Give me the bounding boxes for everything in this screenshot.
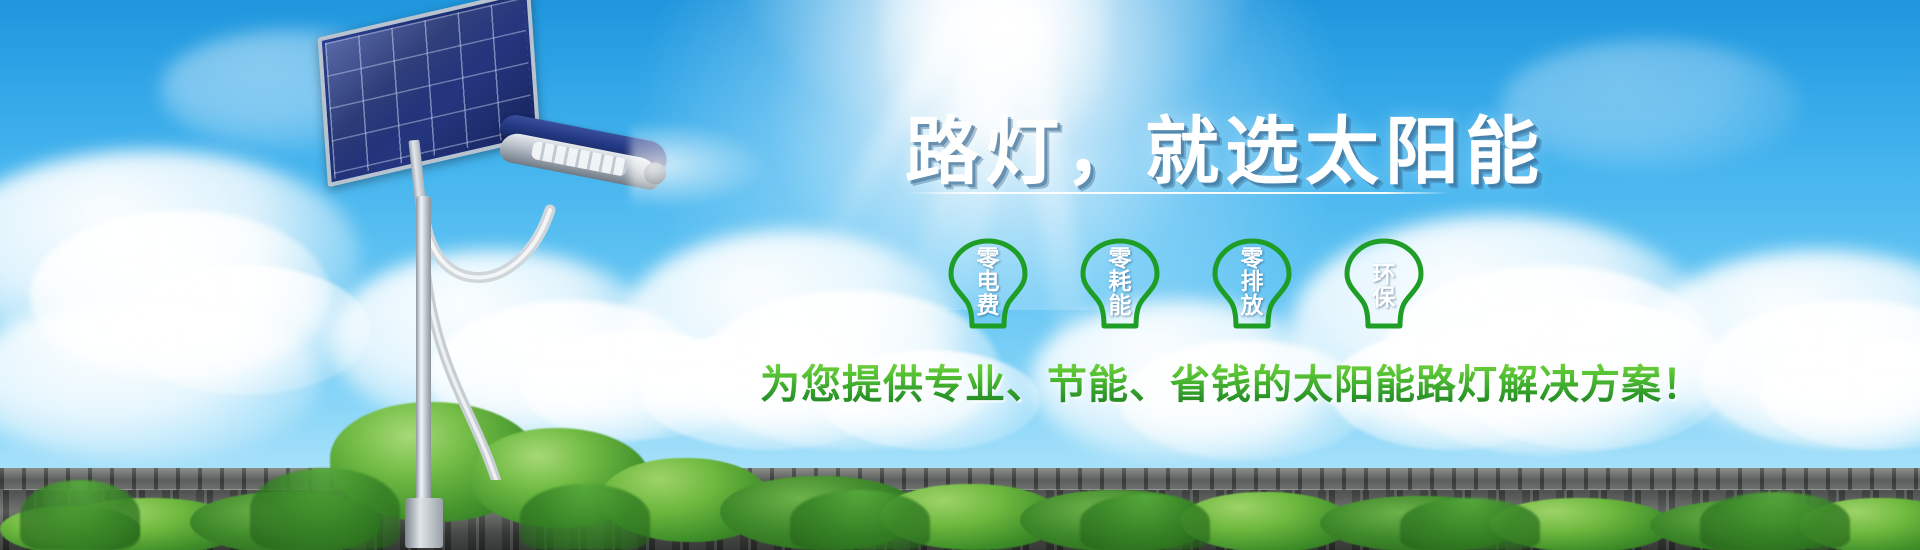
badge-label: 零 电 费 (945, 248, 1031, 318)
banner-tagline: 为您提供专业、节能、省钱的太阳能路灯解决方案！ (760, 352, 1703, 410)
badge-line-2: 放 (1209, 295, 1295, 318)
badge-line-1: 耗 (1077, 271, 1163, 294)
badge-eco-friendly: 环 保 (1341, 238, 1427, 334)
badge-zero: 零 (945, 248, 1031, 271)
badge-zero: 零 (1209, 248, 1295, 271)
badge-line-1: 排 (1209, 271, 1295, 294)
badge-zero-electric-fee: 零 电 费 (945, 238, 1031, 334)
badge-line-1: 电 (945, 271, 1031, 294)
banner-content: 路灯，就选太阳能 零 电 费 零 耗 能 (0, 0, 1920, 550)
badge-label: 环 保 (1341, 264, 1427, 311)
feature-badge-list: 零 电 费 零 耗 能 零 (945, 238, 1465, 334)
page-title: 路灯，就选太阳能 (905, 92, 1545, 199)
badge-label: 零 排 放 (1209, 248, 1295, 318)
badge-line-2: 能 (1077, 295, 1163, 318)
badge-zero-emission: 零 排 放 (1209, 238, 1295, 334)
badge-line-1: 保 (1341, 287, 1427, 310)
badge-zero: 零 (1077, 248, 1163, 271)
badge-zero-energy: 零 耗 能 (1077, 238, 1163, 334)
solar-street-lamp-banner: 路灯，就选太阳能 零 电 费 零 耗 能 (0, 0, 1920, 550)
badge-label: 零 耗 能 (1077, 248, 1163, 318)
badge-line-2: 费 (945, 295, 1031, 318)
badge-line-0: 环 (1341, 264, 1427, 287)
title-divider (905, 192, 1450, 194)
